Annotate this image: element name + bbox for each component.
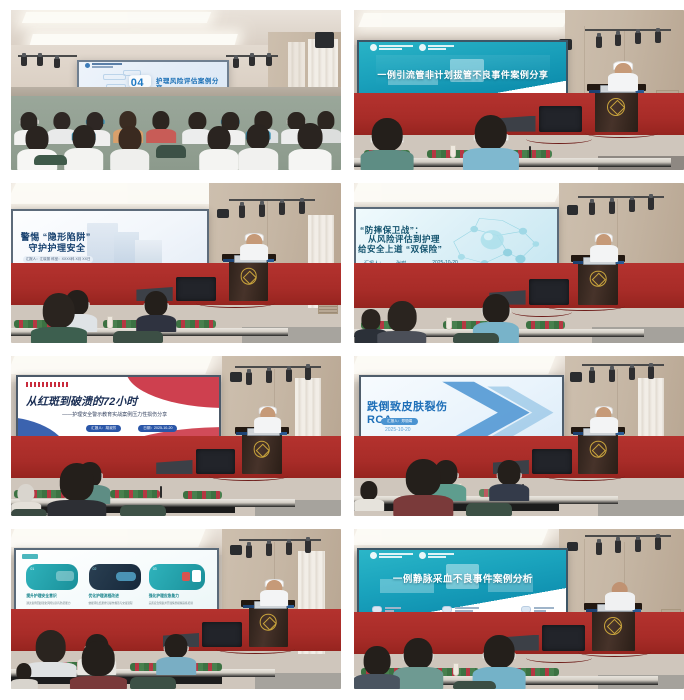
slide-subtitle: ——护理安全警示教育实战案例压力性损伤分享	[62, 412, 206, 418]
slide-presenter: 汇报人：胡淑芳	[86, 425, 121, 432]
presenter	[593, 234, 614, 261]
slide-title: 一例静脉采血不良事件案例分析	[370, 575, 556, 586]
slide-presenter-badge: 汇报人：郑丽娟	[381, 418, 418, 425]
content-column-1: 01 提升护理安全意识 通过案例回顾强化风险识别与防范能力	[26, 564, 78, 606]
slide-date: 日期：2025-10-20	[138, 425, 177, 432]
column-body: 完善应急预案并开展情景模拟演练培训	[149, 602, 205, 606]
lecture-hall-scene: “防摔保卫战”： 从风险评估到护理 给安全上道 “双保险” 汇报人： 张琪 20…	[354, 183, 684, 343]
content-column-3: 03 强化护理应急能力 完善应急预案并开展情景模拟演练培训	[149, 564, 205, 606]
projection-screen: 一例静脉采血不良事件案例分析	[357, 548, 568, 622]
podium	[595, 90, 638, 132]
presenter	[257, 407, 278, 433]
column-tag: 01	[30, 567, 34, 571]
slide-title-line3: 给安全上道 “双保险”	[358, 245, 468, 255]
slide-title-line2: 守护护理安全	[29, 243, 107, 253]
slide-date: 2025-10-20	[385, 427, 411, 433]
column-body: 通过案例回顾强化风险识别与防范能力	[26, 602, 78, 606]
column-body: 依据评估结果修订操作规范与交接流程	[89, 602, 141, 606]
presenter	[263, 580, 284, 606]
column-heading: 优化护理流程改进	[89, 594, 141, 599]
presenter	[611, 63, 634, 90]
lecture-hall-scene: 跌倒致皮肤裂伤RCA 汇报人：郑丽娟 2025-10-20	[354, 356, 684, 516]
partner-logo-icon	[419, 552, 454, 559]
column-heading: 强化护理应急能力	[149, 594, 205, 599]
column-tag: 02	[93, 567, 97, 571]
lecture-hall-scene: 从红斑到破溃的72小时 ——护理安全警示教育实战案例压力性损伤分享 汇报人：胡淑…	[11, 356, 341, 516]
podium-emblem-icon	[260, 614, 277, 631]
photo-thumbnail-2[interactable]: 一例引流管非计划拔管不良事件案例分享	[354, 10, 684, 170]
hospital-logo-icon	[370, 44, 413, 51]
presenter	[608, 582, 631, 609]
podium-emblem-icon	[240, 268, 257, 285]
photo-thumbnail-1[interactable]: 04 护理风险评估案例分享	[11, 10, 341, 170]
lecture-hall-scene: 一例引流管非计划拔管不良事件案例分享	[354, 10, 684, 170]
slide-title-line1: 警惕 “隐形陷阱”	[21, 232, 106, 242]
photo-thumbnail-7[interactable]: 01 提升护理安全意识 通过案例回顾强化风险识别与防范能力 02 优化护理流程改…	[11, 529, 341, 689]
podium-emblem-icon	[590, 270, 607, 287]
photo-thumbnail-6[interactable]: 跌倒致皮肤裂伤RCA 汇报人：郑丽娟 2025-10-20	[354, 356, 684, 516]
lecture-hall-scene: 04 护理风险评估案例分享	[11, 10, 341, 170]
content-column-2: 02 优化护理流程改进 依据评估结果修订操作规范与交接流程	[89, 564, 141, 606]
podium-emblem-icon	[604, 617, 622, 635]
partner-logo-icon	[419, 44, 454, 51]
photo-thumbnail-8[interactable]: 一例静脉采血不良事件案例分析	[354, 529, 684, 689]
photo-grid: 04 护理风险评估案例分享	[0, 0, 684, 700]
presenter	[244, 234, 265, 260]
slide-title: 从红斑到破溃的72小时	[26, 396, 174, 409]
lecture-hall-scene: 一例静脉采血不良事件案例分析	[354, 529, 684, 689]
column-tag: 03	[153, 567, 157, 571]
podium-emblem-icon	[607, 98, 625, 116]
lecture-hall-scene: 警惕 “隐形陷阱” 守护护理安全 汇报人：江晓丽 科室：XXXX科 X月 XX日	[11, 183, 341, 343]
photo-thumbnail-5[interactable]: 从红斑到破溃的72小时 ——护理安全警示教育实战案例压力性损伤分享 汇报人：胡淑…	[11, 356, 341, 516]
presenter	[593, 407, 614, 433]
hospital-logo-icon	[370, 552, 413, 559]
slide-title: 一例引流管非计划拔管不良事件案例分享	[370, 70, 556, 80]
column-heading: 提升护理安全意识	[26, 594, 78, 599]
podium-emblem-icon	[590, 441, 607, 458]
photo-thumbnail-4[interactable]: “防摔保卫战”： 从风险评估到护理 给安全上道 “双保险” 汇报人： 张琪 20…	[354, 183, 684, 343]
audience-area	[11, 87, 341, 170]
hospital-logo-icon	[85, 63, 122, 68]
podium-emblem-icon	[254, 441, 271, 458]
lecture-hall-scene: 01 提升护理安全意识 通过案例回顾强化风险识别与防范能力 02 优化护理流程改…	[11, 529, 341, 689]
photo-thumbnail-3[interactable]: 警惕 “隐形陷阱” 守护护理安全 汇报人：江晓丽 科室：XXXX科 X月 XX日	[11, 183, 341, 343]
